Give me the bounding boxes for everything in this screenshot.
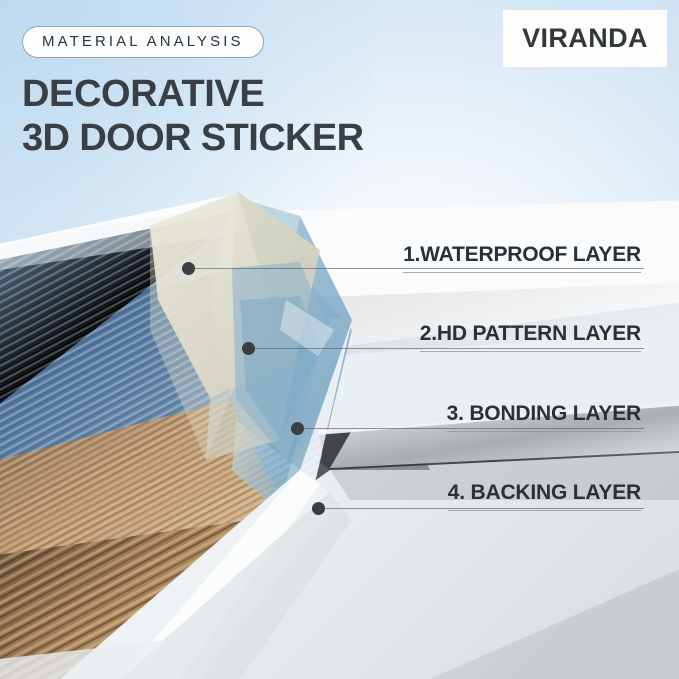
callout-label-4: 4. BACKING LAYER [448, 481, 641, 504]
callout-label-3: 3. BONDING LAYER [447, 402, 641, 425]
layer-marker-dot-1 [182, 262, 195, 275]
callout-rule-3 [447, 431, 641, 432]
callout-backing-layer: 4. BACKING LAYER [448, 481, 641, 515]
page-title-line-2: 3D DOOR STICKER [22, 116, 363, 160]
eyebrow-badge: MATERIAL ANALYSIS [22, 26, 264, 58]
layer-marker-dot-4 [312, 502, 325, 515]
callout-rule-2 [420, 351, 641, 352]
callout-bonding-layer: 3. BONDING LAYER [447, 402, 641, 436]
callout-label-1: 1.WATERPROOF LAYER [403, 243, 641, 266]
callout-rule-4 [448, 510, 641, 511]
callout-hd-pattern-layer: 2.HD PATTERN LAYER [420, 322, 641, 356]
callout-rule-1 [403, 272, 641, 273]
page-title-line-1: DECORATIVE [22, 72, 363, 116]
brand-logo: VIRANDA [503, 10, 667, 67]
layer-marker-dot-3 [291, 422, 304, 435]
layer-marker-dot-2 [242, 342, 255, 355]
product-infographic: 1.WATERPROOF LAYER 2.HD PATTERN LAYER 3.… [0, 0, 679, 679]
callout-waterproof-layer: 1.WATERPROOF LAYER [403, 243, 641, 277]
brand-logo-text: VIRANDA [522, 23, 648, 54]
page-title: DECORATIVE 3D DOOR STICKER [22, 72, 363, 160]
callout-label-2: 2.HD PATTERN LAYER [420, 322, 641, 345]
